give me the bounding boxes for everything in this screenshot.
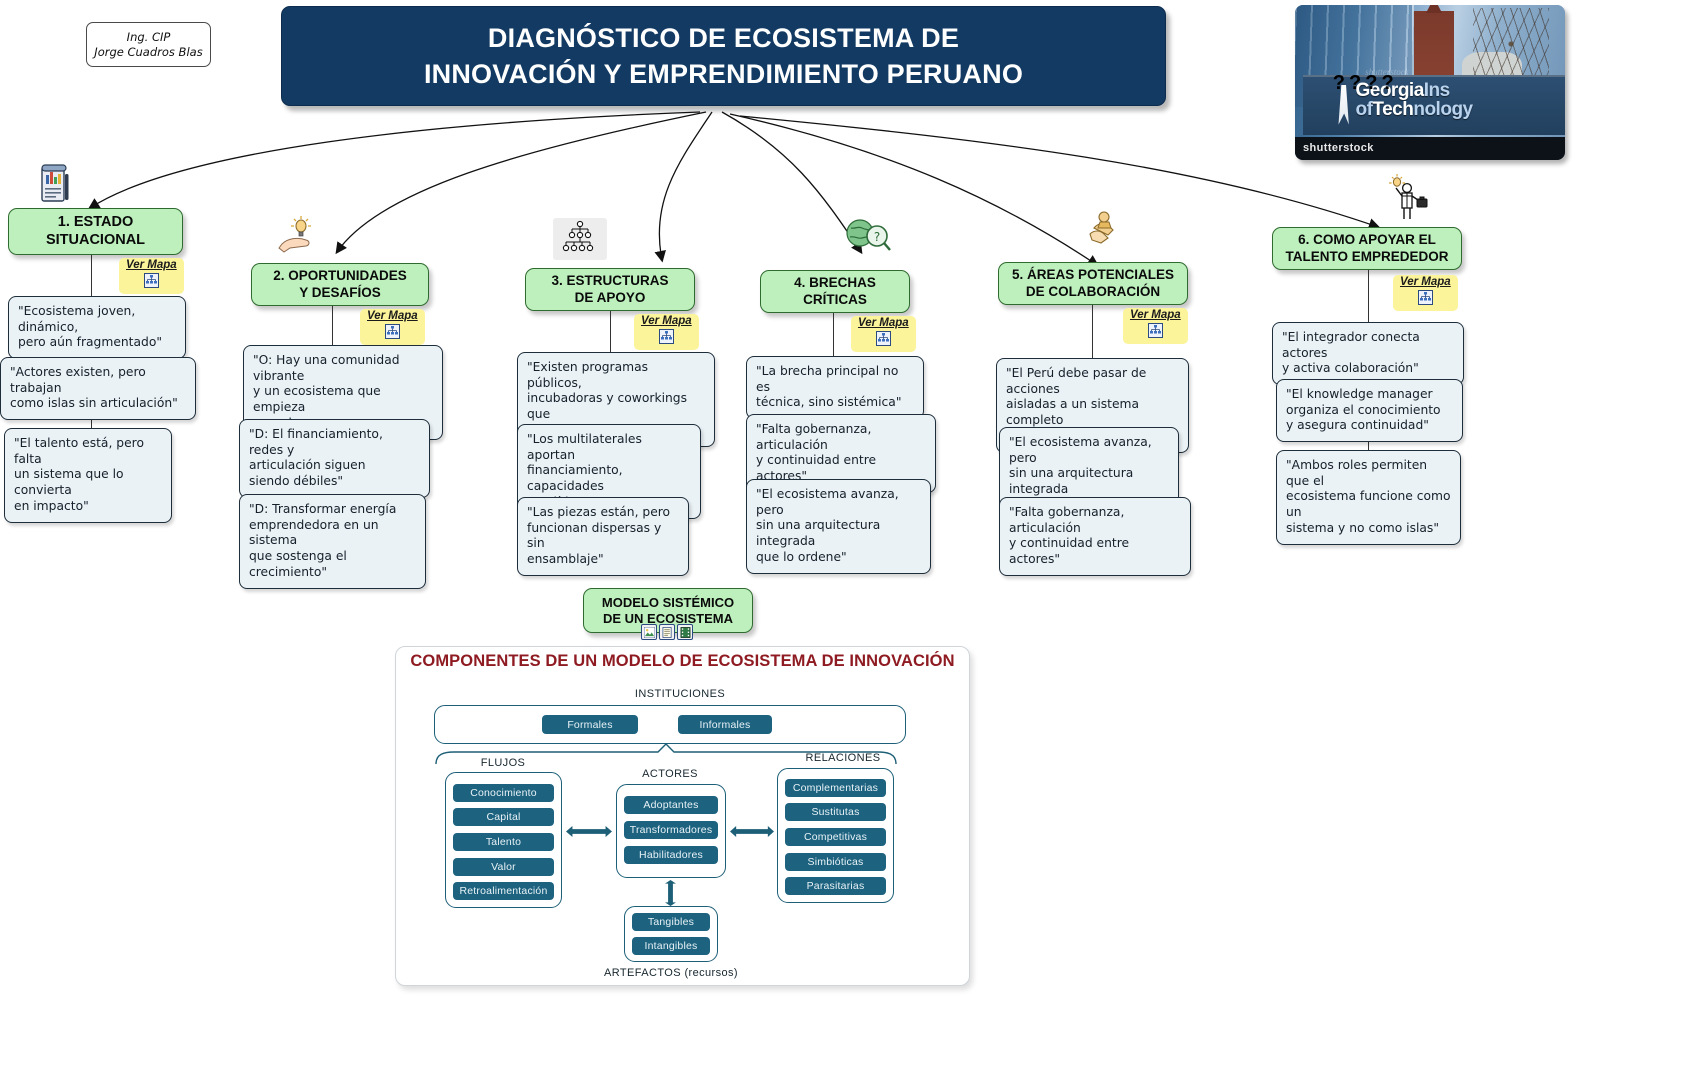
branch-title-line2: Y DESAFÍOS [273,285,407,301]
ver-mapa-badge-5[interactable]: Ver Mapa [1123,308,1188,344]
pill-complementarias[interactable]: Complementarias [785,779,886,797]
ver-mapa-label: Ver Mapa [367,310,418,323]
branch-stem-3 [610,311,611,354]
instituciones-box [434,705,906,744]
ver-mapa-badge-2[interactable]: Ver Mapa [360,309,425,345]
map-tree-icon[interactable] [144,273,159,292]
branch-stem-4 [833,313,834,356]
model-panel-title: COMPONENTES DE UN MODELO DE ECOSISTEMA D… [395,652,970,671]
model-attachment-icons[interactable] [641,624,693,640]
map-tree-icon[interactable] [659,329,674,348]
pill-adoptantes[interactable]: Adoptantes [624,796,718,814]
model-head-line1: MODELO SISTÉMICO [602,595,734,611]
pill-tangibles[interactable]: Tangibles [632,913,710,931]
ver-mapa-label: Ver Mapa [1130,309,1181,322]
note-6-2: "El knowledge manager organiza el conoci… [1276,379,1463,442]
note-2-3: "D: Transformar energía emprendedora en … [239,494,426,589]
branch-title-line2: DE COLABORACIÓN [1012,284,1174,300]
pill-talento[interactable]: Talento [453,833,554,851]
pill-informales[interactable]: Informales [678,715,772,734]
note-1-3: "El talento está, pero falta un sistema … [4,428,172,523]
branch-stem-2 [332,306,333,350]
branch-header-estado-situacional[interactable]: 1. ESTADO SITUACIONAL [8,208,183,255]
hand-lightbulb-icon [276,214,322,260]
pill-formales[interactable]: Formales [542,715,638,734]
map-tree-icon[interactable] [1418,290,1433,309]
map-tree-icon[interactable] [876,331,891,350]
report-document-icon [38,163,74,209]
ver-mapa-badge-6[interactable]: Ver Mapa [1393,275,1458,311]
branch-title-line2: SITUACIONAL [46,232,145,250]
branch-title-line1: 1. ESTADO [46,214,145,232]
pill-competitivas[interactable]: Competitivas [785,828,886,846]
relaciones-label: RELACIONES [778,752,908,764]
note-5-3: "Falta gobernanza, articulación y contin… [999,497,1191,576]
branch-title-line1: 2. OPORTUNIDADES [273,268,407,284]
branch-title-line2: CRÍTICAS [794,292,876,308]
artefactos-label: ARTEFACTOS (recursos) [601,967,741,979]
ver-mapa-badge-4[interactable]: Ver Mapa [851,316,916,352]
branch-title-line1: 6. COMO APOYAR EL [1285,232,1448,248]
note-4-3: "El ecosistema avanza, pero sin una arqu… [746,479,931,574]
branch-stem-6 [1368,270,1369,322]
note-1-2: "Actores existen, pero trabajan como isl… [0,357,196,420]
branch-header-brechas-criticas[interactable]: 4. BRECHAS CRÍTICAS [760,270,910,313]
note-4-1: "La brecha principal no es técnica, sino… [746,356,924,419]
branch-stem-5 [1092,305,1093,359]
note-2-2: "D: El financiamiento, redes y articulac… [239,419,430,498]
branch-title-line1: 5. ÁREAS POTENCIALES [1012,267,1174,283]
note-3-3: "Las piezas están, pero funcionan disper… [517,497,689,576]
document-icon[interactable] [659,624,675,640]
video-icon[interactable] [677,624,693,640]
branch-title-line2: DE APOYO [551,290,668,306]
branch-header-oportunidades-desafios[interactable]: 2. OPORTUNIDADES Y DESAFÍOS [251,263,429,306]
entrepreneur-idea-icon [1385,172,1431,226]
pill-capital[interactable]: Capital [453,808,554,826]
ver-mapa-label: Ver Mapa [126,259,177,272]
ver-mapa-label: Ver Mapa [641,315,692,328]
note-6-3: "Ambos roles permiten que el ecosistema … [1276,450,1461,545]
pill-retroalimentacion[interactable]: Retroalimentación [453,882,554,900]
pill-conocimiento[interactable]: Conocimiento [453,784,554,802]
branch-title-line1: 4. BRECHAS [794,275,876,291]
note-6-1: "El integrador conecta actores y activa … [1272,322,1464,385]
actores-label: ACTORES [610,768,730,780]
branch-header-areas-potenciales-colaboracion[interactable]: 5. ÁREAS POTENCIALES DE COLABORACIÓN [998,262,1188,305]
map-tree-icon[interactable] [1148,323,1163,342]
map-tree-icon[interactable] [385,324,400,343]
branch-header-estructuras-de-apoyo[interactable]: 3. ESTRUCTURAS DE APOYO [525,268,695,311]
pill-transformadores[interactable]: Transformadores [624,821,718,839]
ver-mapa-badge-1[interactable]: Ver Mapa [119,258,184,294]
pill-intangibles[interactable]: Intangibles [632,937,710,955]
pill-simbioticas[interactable]: Simbióticas [785,853,886,871]
branch-title-line1: 3. ESTRUCTURAS [551,273,668,289]
branch-title-line2: TALENTO EMPREDEDOR [1285,249,1448,265]
flujos-label: FLUJOS [443,757,563,769]
pill-valor[interactable]: Valor [453,858,554,876]
image-icon[interactable] [641,624,657,640]
pill-parasitarias[interactable]: Parasitarias [785,877,886,895]
pill-sustitutas[interactable]: Sustitutas [785,803,886,821]
instituciones-label: INSTITUCIONES [560,688,800,700]
ver-mapa-badge-3[interactable]: Ver Mapa [634,314,699,350]
ver-mapa-label: Ver Mapa [1400,276,1451,289]
org-chart-icon [553,218,607,260]
ver-mapa-label: Ver Mapa [858,317,909,330]
note-1-1: "Ecosistema joven, dinámico, pero aún fr… [8,296,186,359]
branch-header-como-apoyar-talento-emprendedor[interactable]: 6. COMO APOYAR EL TALENTO EMPREDEDOR [1272,227,1462,270]
handshake-icon [1080,208,1124,256]
pill-habilitadores[interactable]: Habilitadores [624,846,718,864]
globe-magnifier-icon: ? [843,216,891,260]
svg-text:?: ? [874,230,880,244]
